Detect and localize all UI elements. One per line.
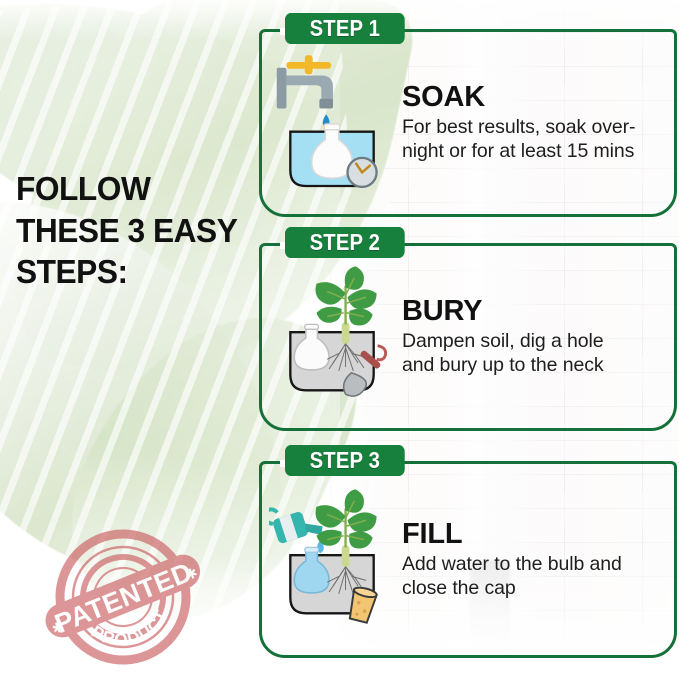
step-1-icon-box bbox=[262, 32, 398, 214]
step-card-1: STEP 1 bbox=[259, 29, 677, 217]
step-2-icon-box bbox=[262, 246, 398, 428]
step-card-2: STEP 2 bbox=[259, 243, 677, 431]
step-3-text-box: FILL Add water to the bulb and close the… bbox=[398, 519, 674, 601]
infographic-root: FOLLOW THESE 3 EASY STEPS: PATENTED ✱ ✱ … bbox=[0, 0, 679, 679]
step-3-title: FILL bbox=[402, 519, 662, 549]
step-1-text-box: SOAK For best results, soak over- night … bbox=[398, 82, 674, 164]
step-card-3: STEP 3 bbox=[259, 461, 677, 658]
step-2-description: Dampen soil, dig a hole and bury up to t… bbox=[402, 330, 662, 378]
step-card-3-body: FILL Add water to the bulb and close the… bbox=[262, 464, 674, 655]
step-card-1-body: SOAK For best results, soak over- night … bbox=[262, 32, 674, 214]
step-card-2-body: BURY Dampen soil, dig a hole and bury up… bbox=[262, 246, 674, 428]
step-2-title: BURY bbox=[402, 296, 662, 326]
step-3-icon-box bbox=[262, 464, 398, 655]
step-2-text-box: BURY Dampen soil, dig a hole and bury up… bbox=[398, 296, 674, 378]
faucet-bucket-bulb-clock-icon bbox=[269, 50, 395, 196]
soil-bulb-plant-trowel-icon bbox=[269, 264, 395, 410]
watering-can-bulb-plant-cork-icon bbox=[269, 487, 395, 633]
step-3-description: Add water to the bulb and close the cap bbox=[402, 553, 662, 601]
step-1-title: SOAK bbox=[402, 82, 662, 112]
step-1-description: For best results, soak over- night or fo… bbox=[402, 116, 662, 164]
page-title: FOLLOW THESE 3 EASY STEPS: bbox=[16, 168, 252, 293]
